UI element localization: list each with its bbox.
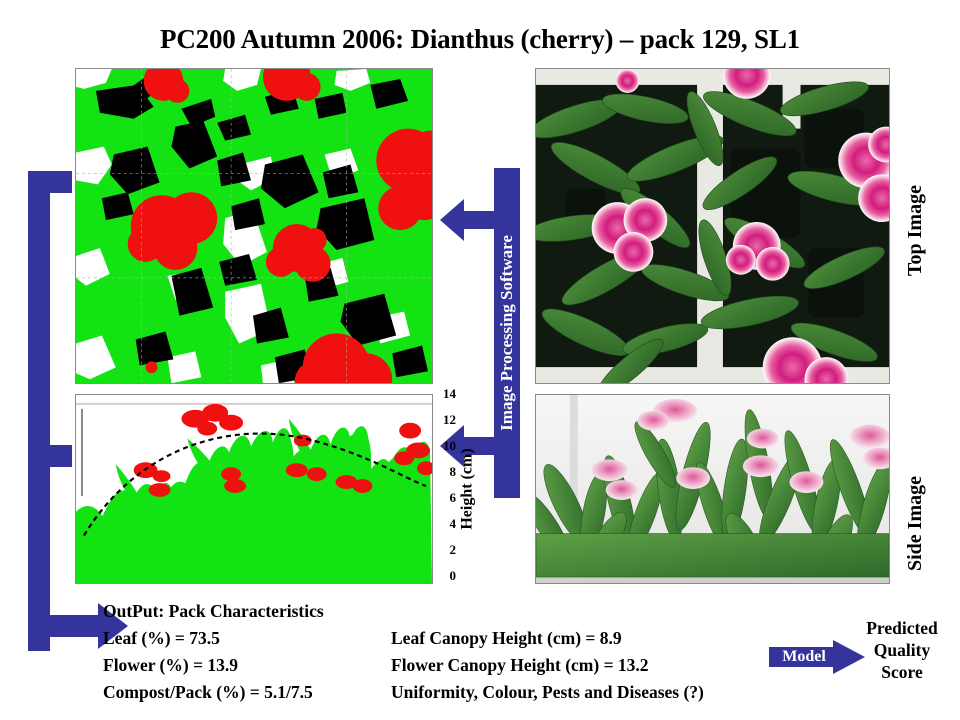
top-image-label-text: Top Image: [904, 185, 927, 276]
axis-tick-0: 0: [434, 570, 456, 582]
height-axis-title-text: Height (cm): [459, 448, 477, 529]
pqs-line-2: Quality: [846, 639, 958, 661]
results-connector-arrow: [18, 167, 148, 657]
side-image-label-text: Side Image: [904, 476, 927, 571]
height-axis: 14 12 10 8 6 4 2 0 Height (cm): [434, 386, 494, 586]
output-flower-percent: Flower (%) = 13.9: [103, 655, 238, 676]
axis-tick-2: 2: [434, 544, 456, 556]
top-view-photo-graphic: [536, 69, 889, 383]
output-compost-pack-percent: Compost/Pack (%) = 5.1/7.5: [103, 682, 313, 703]
axis-tick-12: 12: [434, 414, 456, 426]
page-title: PC200 Autumn 2006: Dianthus (cherry) – p…: [0, 24, 960, 55]
pqs-line-1: Predicted: [846, 617, 958, 639]
output-leaf-percent: Leaf (%) = 73.5: [103, 628, 220, 649]
top-view-photo[interactable]: [535, 68, 890, 384]
side-view-photo[interactable]: [535, 394, 890, 584]
axis-tick-8: 8: [434, 466, 456, 478]
output-leaf-canopy-height: Leaf Canopy Height (cm) = 8.9: [391, 628, 622, 649]
slide-root: PC200 Autumn 2006: Dianthus (cherry) – p…: [0, 0, 960, 720]
height-axis-title: Height (cm): [458, 434, 478, 544]
side-image-label: Side Image: [898, 448, 932, 598]
top-image-label: Top Image: [898, 150, 932, 310]
side-view-photo-graphic: [536, 395, 889, 583]
axis-tick-6: 6: [434, 492, 456, 504]
axis-tick-14: 14: [434, 388, 456, 400]
model-label: Model: [773, 647, 835, 667]
axis-tick-10: 10: [434, 440, 456, 452]
output-uniformity-colour-pests: Uniformity, Colour, Pests and Diseases (…: [391, 682, 704, 703]
axis-tick-4: 4: [434, 518, 456, 530]
output-heading: OutPut: Pack Characteristics: [103, 601, 324, 622]
arrow-left-top: [440, 198, 500, 242]
predicted-quality-score: Predicted Quality Score: [846, 617, 958, 683]
pqs-line-3: Score: [846, 661, 958, 683]
output-flower-canopy-height: Flower Canopy Height (cm) = 13.2: [391, 655, 649, 676]
